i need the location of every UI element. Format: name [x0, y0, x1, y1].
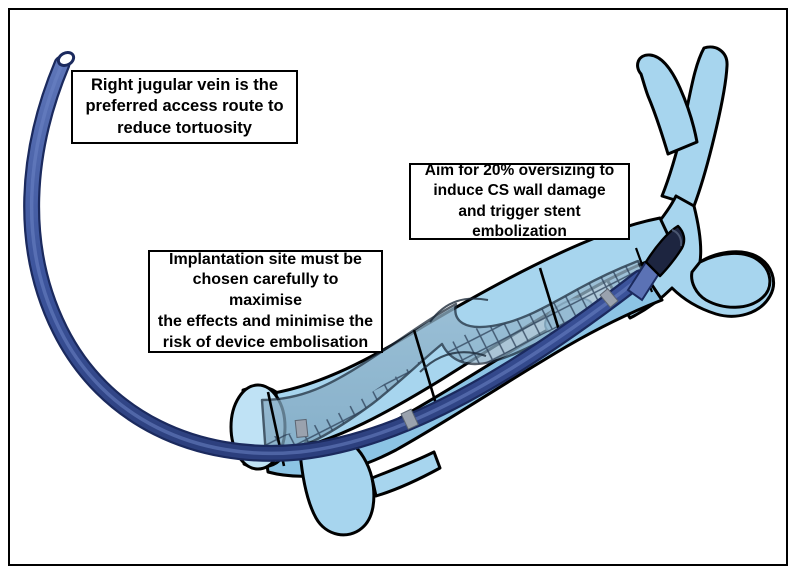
vein-branch-upper-left: [638, 55, 697, 154]
callout-access-route-text: Right jugular vein is the preferred acce…: [85, 75, 283, 139]
callout-oversizing: Aim for 20% oversizing to induce CS wall…: [409, 163, 630, 240]
right-atrial-lobe: [692, 253, 770, 307]
callout-oversizing-text: Aim for 20% oversizing to induce CS wall…: [417, 161, 622, 242]
marker-band-1: [295, 419, 308, 437]
callout-implantation-site-text: Implantation site must be chosen careful…: [156, 250, 375, 354]
callout-access-route: Right jugular vein is the preferred acce…: [71, 70, 298, 144]
figure-root: Right jugular vein is the preferred acce…: [0, 0, 796, 574]
callout-implantation-site: Implantation site must be chosen careful…: [148, 250, 383, 353]
side-branch-stub: [372, 452, 440, 496]
